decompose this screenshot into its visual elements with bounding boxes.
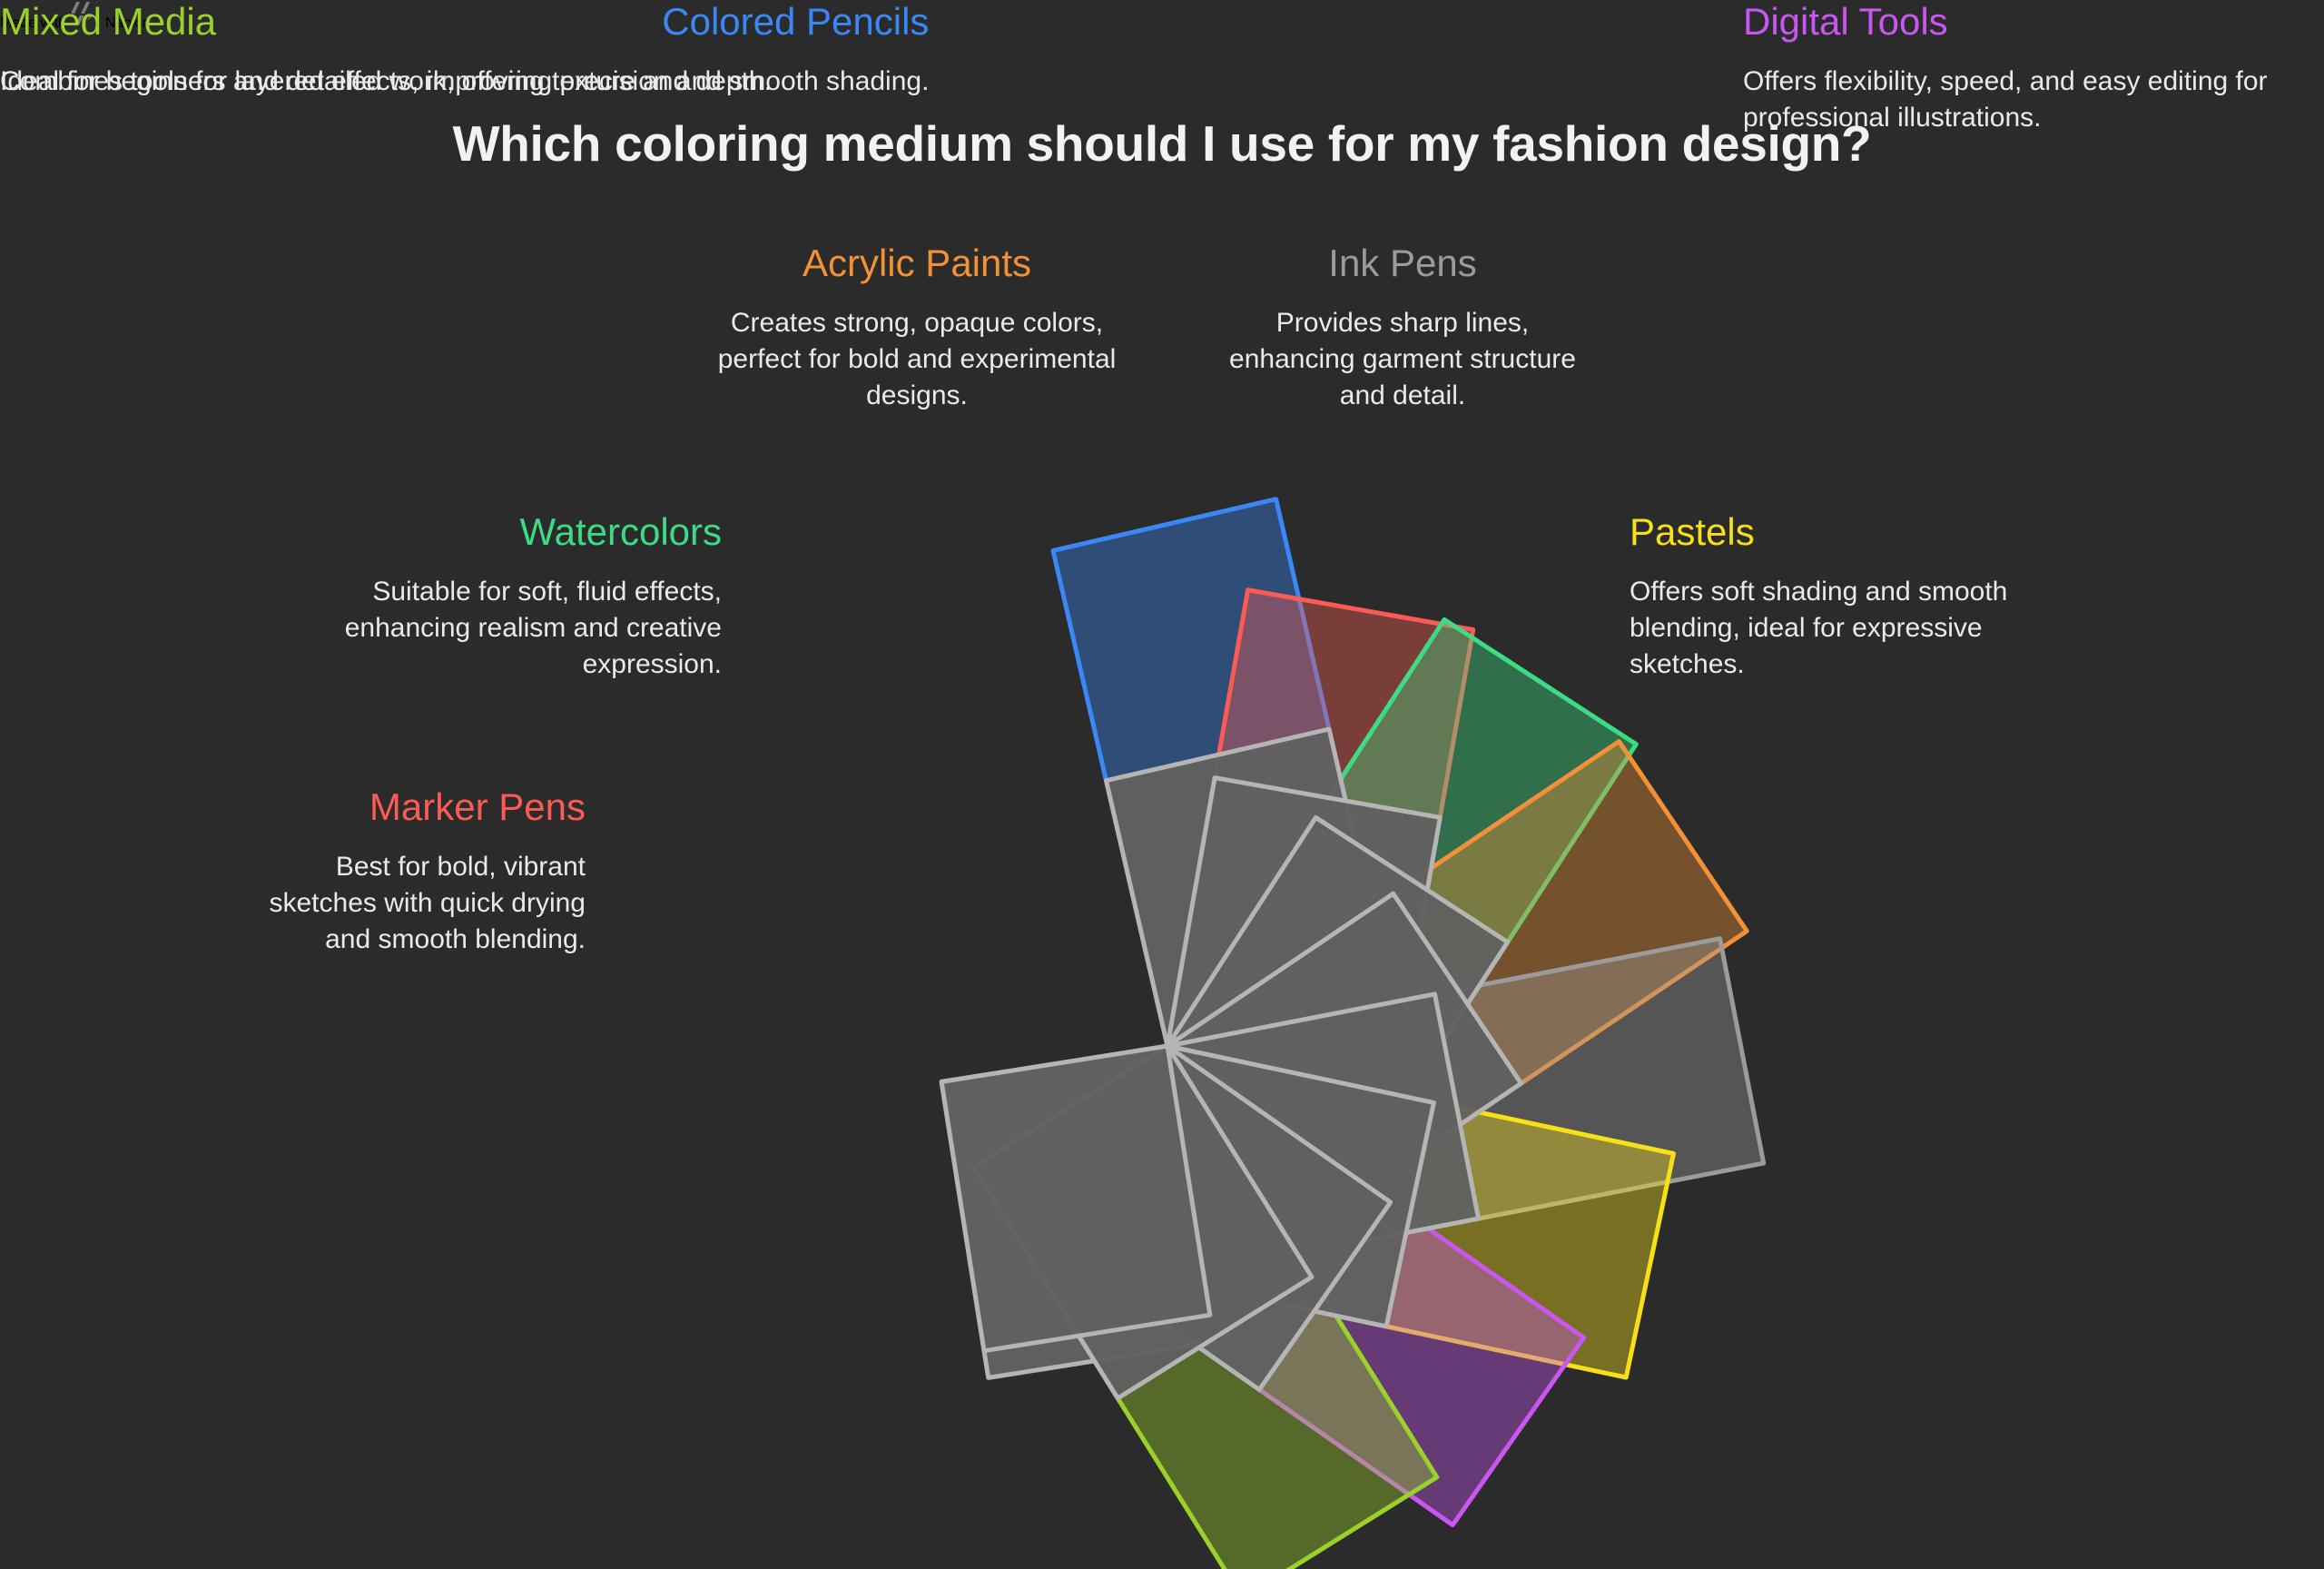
pinwheel-hub-segment-acrylic [1167,893,1521,1236]
pinwheel-blade-digital[interactable] [1037,1046,1584,1525]
node-label-watercolors: Watercolors [250,510,722,554]
node-label-mixed-media: Mixed Media [0,0,772,44]
pinwheel-blade-pencils[interactable] [1053,499,1391,1046]
pinwheel-hub-segment-gray-tail [941,1046,1210,1351]
pinwheel-blade-ink[interactable] [1167,939,1764,1271]
pinwheel-blade-marker[interactable] [1167,590,1473,1086]
pinwheel-blade-mixed[interactable] [973,1046,1437,1569]
pinwheel-hub-segment-ink [1167,994,1479,1271]
node-description-digital-tools: Offers flexibility, speed, and easy edit… [1743,64,2324,136]
pinwheel-diagram [0,0,2324,1569]
infographic-canvas: Which coloring medium should I use for m… [0,0,2324,1569]
node-digital-tools[interactable]: Digital Tools Offers flexibility, speed,… [1743,0,2324,136]
pinwheel-hub-segment-pastels [1120,1046,1434,1327]
pinwheel-blade-gray-tail[interactable] [941,1046,1215,1377]
node-pastels[interactable]: Pastels Offers soft shading and smooth b… [1630,510,2083,683]
node-label-ink-pens: Ink Pens [1221,242,1584,285]
node-description-ink-pens: Provides sharp lines, enhancing garment … [1221,305,1584,414]
node-label-marker-pens: Marker Pens [222,785,586,829]
pinwheel-hub [941,729,1521,1398]
pinwheel-hub-segment-mixed [973,1046,1312,1398]
node-label-acrylic-paints: Acrylic Paints [690,242,1144,285]
node-marker-pens[interactable]: Marker Pens Best for bold, vibrant sketc… [222,785,586,958]
node-description-mixed-media: Combines tools for layered effects, impr… [0,64,772,100]
node-ink-pens[interactable]: Ink Pens Provides sharp lines, enhancing… [1221,242,1584,414]
pinwheel-blade-watercolors[interactable] [1167,619,1636,1170]
pinwheel-hub-segment-digital [1037,1046,1391,1390]
pinwheel-blade-acrylic[interactable] [1167,742,1747,1236]
node-description-acrylic-paints: Creates strong, opaque colors, perfect f… [690,305,1144,414]
pinwheel-blade-pastels[interactable] [1120,1046,1674,1377]
node-watercolors[interactable]: Watercolors Suitable for soft, fluid eff… [250,510,722,683]
pinwheel-hub-segment-pencils [1107,729,1391,1046]
node-label-pastels: Pastels [1630,510,2083,554]
node-mixed-media[interactable]: Mixed Media Combines tools for layered e… [0,0,772,100]
node-description-watercolors: Suitable for soft, fluid effects, enhanc… [250,574,722,683]
pinwheel-hub-segment-watercolors [1167,817,1508,1170]
node-description-pastels: Offers soft shading and smooth blending,… [1630,574,2083,683]
node-acrylic-paints[interactable]: Acrylic Paints Creates strong, opaque co… [690,242,1144,414]
node-label-digital-tools: Digital Tools [1743,0,2324,44]
pinwheel-hub-segment-marker [1167,778,1440,1086]
node-description-marker-pens: Best for bold, vibrant sketches with qui… [222,849,586,958]
